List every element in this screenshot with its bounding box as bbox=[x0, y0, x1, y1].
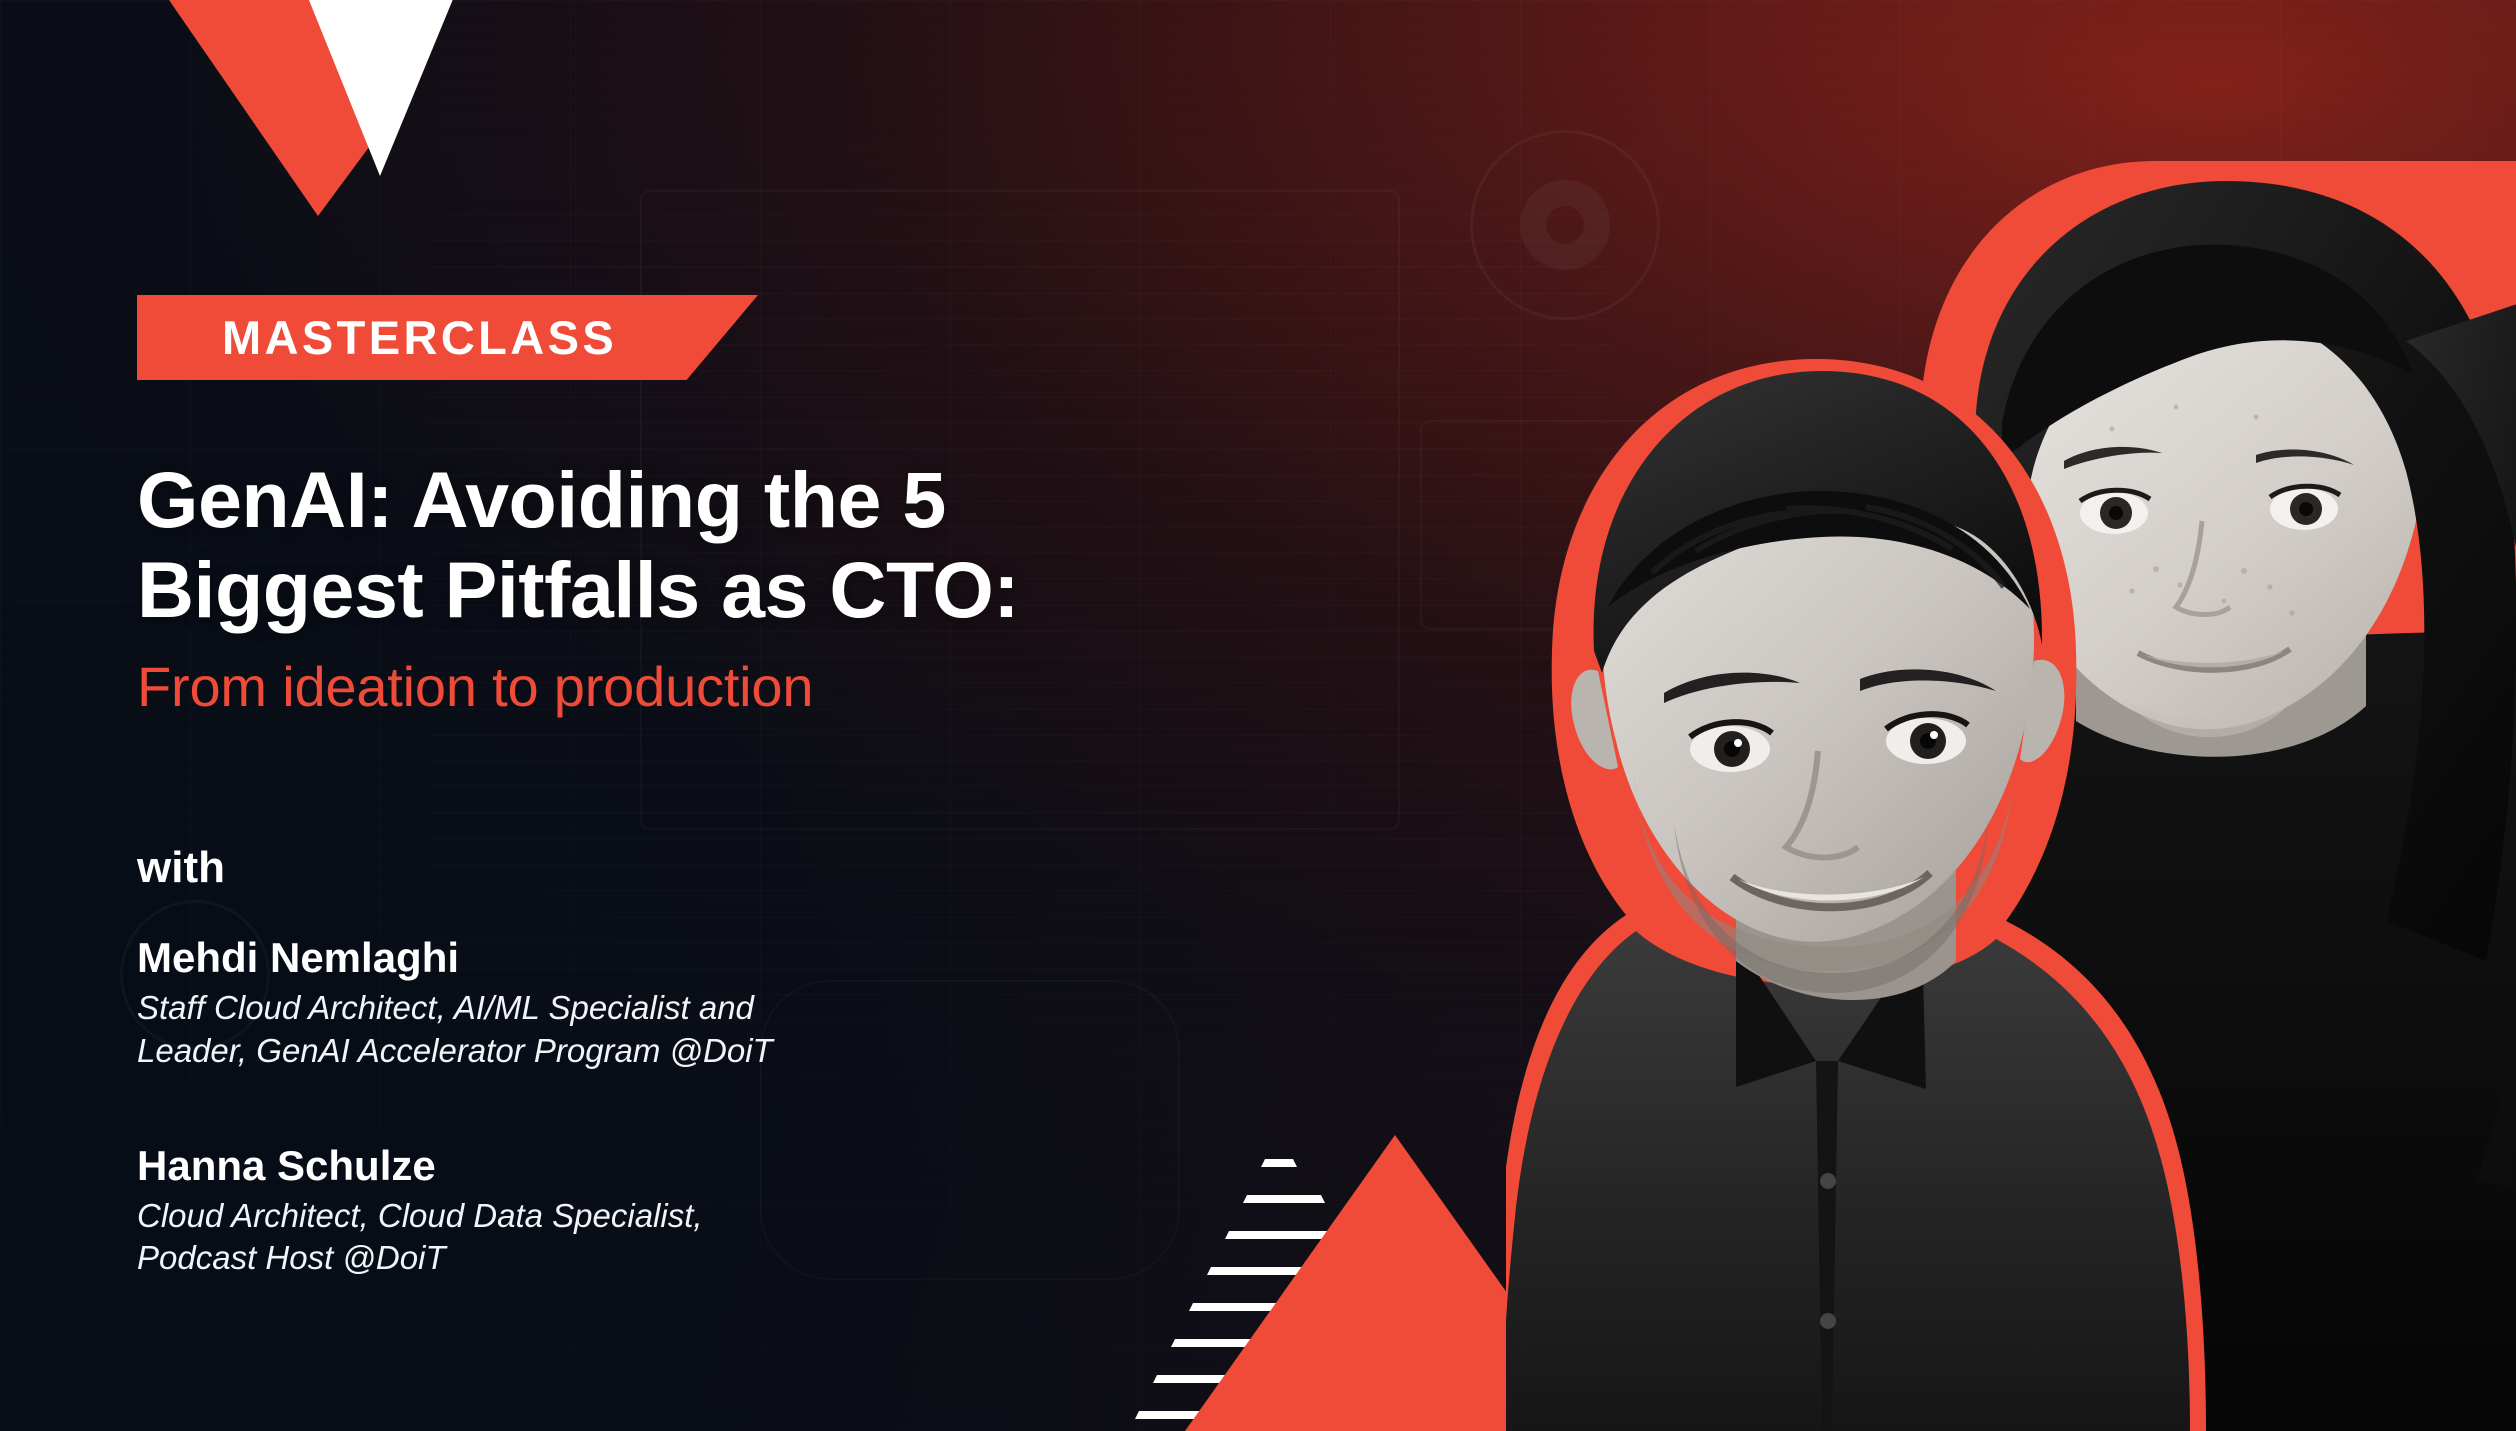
speaker-role: Cloud Architect, Cloud Data Specialist, … bbox=[137, 1195, 1097, 1279]
speaker-role-line-1: Staff Cloud Architect, AI/ML Specialist … bbox=[137, 989, 754, 1026]
list-item: Mehdi Nemlaghi Staff Cloud Architect, AI… bbox=[137, 934, 1257, 1072]
webinar-promo-poster: MASTERCLASS GenAI: Avoiding the 5 Bigges… bbox=[0, 0, 2516, 1431]
masterclass-badge: MASTERCLASS bbox=[137, 295, 758, 380]
list-item: Hanna Schulze Cloud Architect, Cloud Dat… bbox=[137, 1142, 1257, 1280]
page-title: GenAI: Avoiding the 5 Biggest Pitfalls a… bbox=[137, 455, 1257, 635]
speakers-list: Mehdi Nemlaghi Staff Cloud Architect, AI… bbox=[137, 934, 1257, 1279]
title-line-1: GenAI: Avoiding the 5 bbox=[137, 455, 946, 544]
poster-content: GenAI: Avoiding the 5 Biggest Pitfalls a… bbox=[137, 455, 1257, 1279]
speaker-name: Mehdi Nemlaghi bbox=[137, 934, 1257, 981]
speaker-role-line-1: Cloud Architect, Cloud Data Specialist, bbox=[137, 1197, 703, 1234]
speaker-photo-mehdi-nemlaghi bbox=[1506, 301, 2246, 1431]
speaker-name: Hanna Schulze bbox=[137, 1142, 1257, 1189]
speaker-photos bbox=[1506, 0, 2516, 1431]
speaker-role: Staff Cloud Architect, AI/ML Specialist … bbox=[137, 987, 1097, 1071]
doit-v-logo bbox=[140, 0, 560, 238]
speaker-role-line-2: Podcast Host @DoiT bbox=[137, 1239, 446, 1276]
title-line-2: Biggest Pitfalls as CTO: bbox=[137, 545, 1019, 634]
masterclass-badge-label: MASTERCLASS bbox=[137, 314, 617, 361]
speaker-role-line-2: Leader, GenAI Accelerator Program @DoiT bbox=[137, 1032, 773, 1069]
page-subtitle: From ideation to production bbox=[137, 653, 1257, 720]
with-label: with bbox=[137, 846, 1257, 890]
